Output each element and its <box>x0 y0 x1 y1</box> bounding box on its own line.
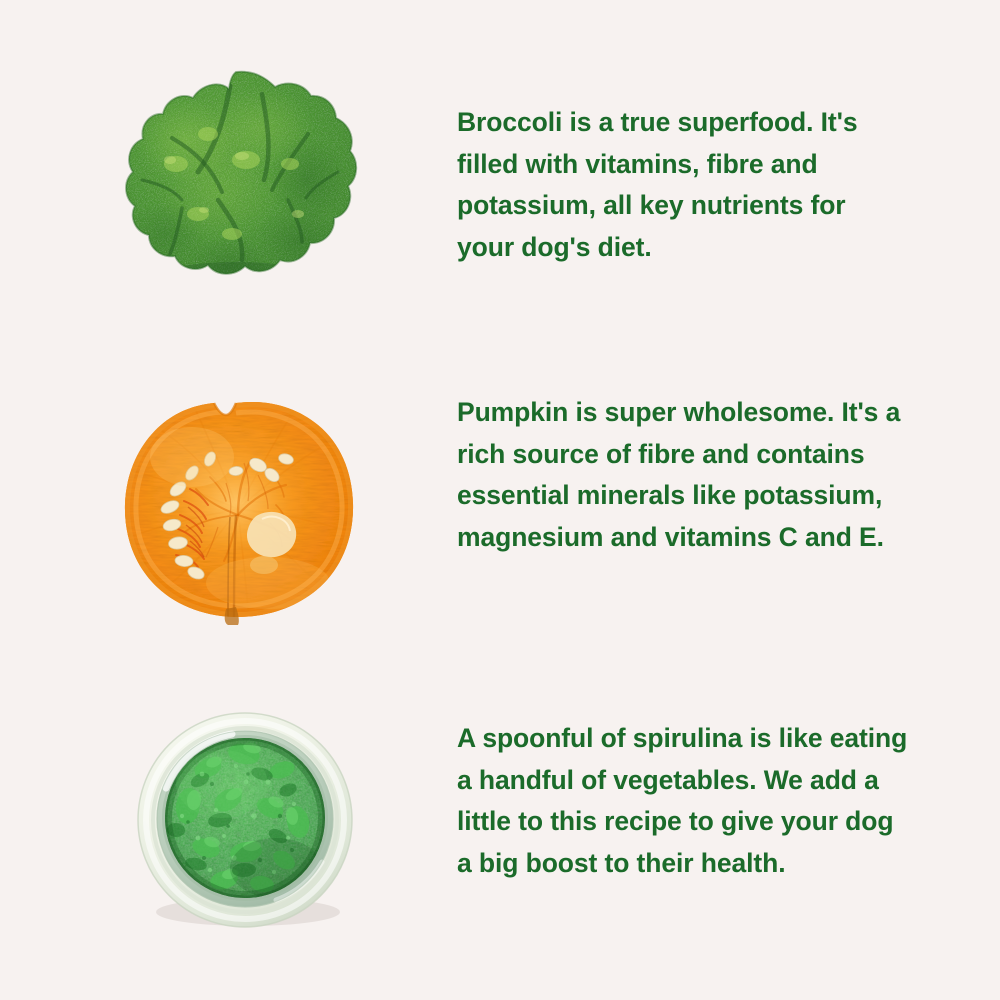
ingredient-row-broccoli: Broccoli is a true superfood. It's fille… <box>0 0 1000 333</box>
ingredient-benefits-panel: Broccoli is a true superfood. It's fille… <box>0 0 1000 1000</box>
spirulina-powder-bowl-photo <box>136 712 354 928</box>
spirulina-benefit-text: A spoonful of spirulina is like eating a… <box>457 718 909 884</box>
broccoli-benefit-text: Broccoli is a true superfood. It's fille… <box>457 102 909 268</box>
pumpkin-half-photo <box>118 397 360 625</box>
pumpkin-benefit-text: Pumpkin is super wholesome. It's a rich … <box>457 392 909 558</box>
broccoli-head-photo <box>112 68 360 296</box>
ingredient-row-pumpkin: Pumpkin is super wholesome. It's a rich … <box>0 333 1000 666</box>
ingredient-row-spirulina: A spoonful of spirulina is like eating a… <box>0 666 1000 1000</box>
